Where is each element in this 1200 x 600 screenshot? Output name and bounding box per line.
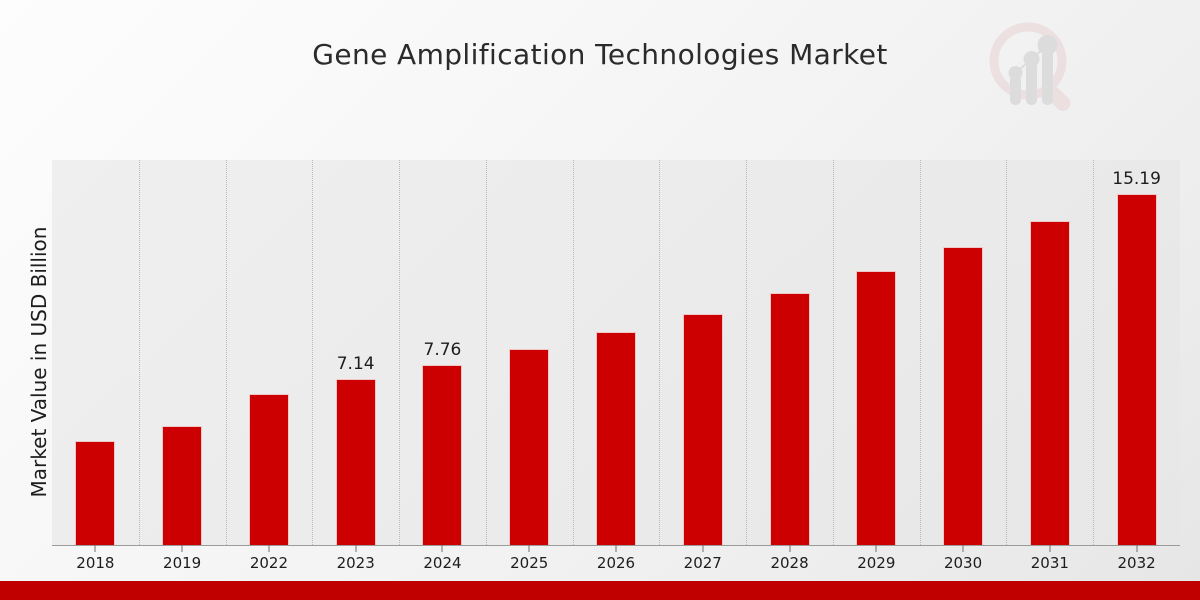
bar-2022[interactable] (249, 394, 289, 545)
tick-mark-2030 (963, 545, 964, 552)
bar-2027[interactable] (683, 314, 723, 545)
y-axis-label: Market Value in USD Billion (27, 127, 51, 597)
x-tick-label-2027: 2027 (684, 554, 722, 572)
tick-mark-2019 (182, 545, 183, 552)
bar-2019[interactable] (162, 426, 202, 545)
bar-2024[interactable] (422, 365, 462, 545)
bar-2023[interactable] (336, 379, 376, 545)
x-tick-label-2030: 2030 (944, 554, 982, 572)
bar-group-2029[interactable] (833, 160, 920, 545)
tick-mark-2031 (1049, 545, 1050, 552)
tick-mark-2028 (789, 545, 790, 552)
bar-group-2024[interactable]: 7.76 (399, 160, 486, 545)
x-tick-label-2025: 2025 (510, 554, 548, 572)
bar-2032[interactable] (1117, 194, 1157, 545)
bar-group-2027[interactable] (659, 160, 746, 545)
x-tick-label-2032: 2032 (1118, 554, 1156, 572)
x-tick-label-2026: 2026 (597, 554, 635, 572)
tick-mark-2026 (616, 545, 617, 552)
tick-mark-2027 (702, 545, 703, 552)
bar-2026[interactable] (596, 332, 636, 545)
bar-group-2023[interactable]: 7.14 (312, 160, 399, 545)
x-axis-ticks: 2018201920222023202420252026202720282029… (52, 545, 1180, 580)
bar-2025[interactable] (509, 349, 549, 545)
x-tick-label-2024: 2024 (423, 554, 461, 572)
bar-2018[interactable] (75, 441, 115, 545)
bar-2031[interactable] (1030, 221, 1070, 545)
tick-mark-2025 (529, 545, 530, 552)
chart-page: Gene Amplification Technologies Market M… (0, 0, 1200, 600)
bar-value-label-2024: 7.76 (424, 340, 462, 360)
x-tick-label-2022: 2022 (250, 554, 288, 572)
bottom-accent-stripe (0, 581, 1200, 600)
bar-group-2026[interactable] (573, 160, 660, 545)
tick-mark-2018 (95, 545, 96, 552)
x-tick-label-2031: 2031 (1031, 554, 1069, 572)
tick-mark-2023 (355, 545, 356, 552)
tick-mark-2029 (876, 545, 877, 552)
magnifying-glass-bar-chart-logo-icon (982, 17, 1086, 121)
bar-group-2025[interactable] (486, 160, 573, 545)
bar-group-2030[interactable] (920, 160, 1007, 545)
bar-group-2018[interactable] (52, 160, 139, 545)
bar-value-label-2032: 15.19 (1112, 169, 1161, 189)
tick-mark-2024 (442, 545, 443, 552)
bar-group-2032[interactable]: 15.19 (1093, 160, 1180, 545)
x-tick-label-2029: 2029 (857, 554, 895, 572)
bar-value-label-2023: 7.14 (337, 354, 375, 374)
x-tick-label-2019: 2019 (163, 554, 201, 572)
x-tick-label-2023: 2023 (337, 554, 375, 572)
tick-mark-2032 (1136, 545, 1137, 552)
bar-group-2022[interactable] (226, 160, 313, 545)
bar-2030[interactable] (943, 247, 983, 545)
bar-group-2031[interactable] (1006, 160, 1093, 545)
tick-mark-2022 (268, 545, 269, 552)
bar-2029[interactable] (856, 271, 896, 545)
x-tick-label-2028: 2028 (770, 554, 808, 572)
bar-group-2028[interactable] (746, 160, 833, 545)
bar-group-2019[interactable] (139, 160, 226, 545)
x-tick-label-2018: 2018 (76, 554, 114, 572)
bar-2028[interactable] (770, 293, 810, 545)
bar-series: 7.147.7615.19 (52, 160, 1180, 545)
